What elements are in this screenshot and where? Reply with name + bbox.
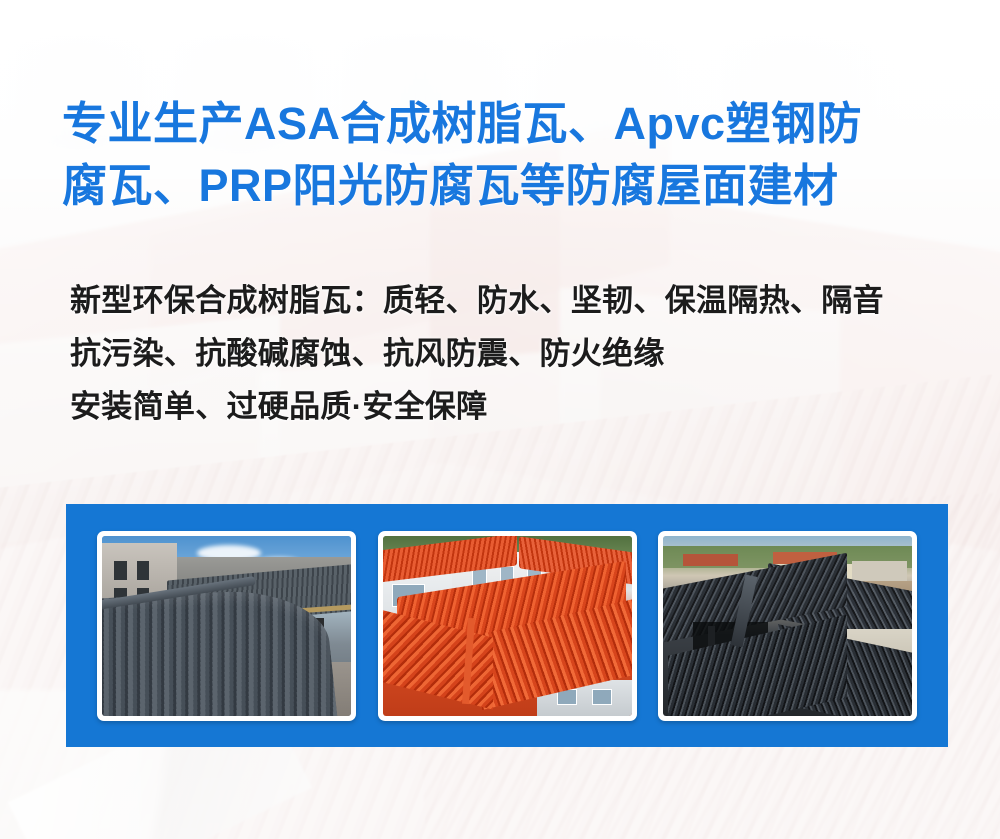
black-roof-image: [663, 536, 912, 716]
subtitle-line-3: 安装简单、过硬品质·安全保障: [70, 380, 970, 433]
feature-list: 新型环保合成树脂瓦：质轻、防水、坚韧、保温隔热、隔音 抗污染、抗酸碱腐蚀、抗风防…: [70, 274, 970, 433]
grey-resin-tile-roof-photo[interactable]: [97, 531, 356, 721]
banner-content: 专业生产ASA合成树脂瓦、Apvc塑钢防 腐瓦、PRP阳光防腐瓦等防腐屋面建材 …: [0, 0, 1000, 839]
grey-roof-image: [102, 536, 351, 716]
subtitle-line-1: 新型环保合成树脂瓦：质轻、防水、坚韧、保温隔热、隔音: [70, 274, 970, 327]
black-resin-tile-roof-photo[interactable]: [658, 531, 917, 721]
headline-line-1: 专业生产ASA合成树脂瓦、Apvc塑钢防: [62, 93, 952, 155]
headline-line-2: 腐瓦、PRP阳光防腐瓦等防腐屋面建材: [62, 155, 952, 217]
red-roof-image: [383, 536, 632, 716]
page-title: 专业生产ASA合成树脂瓦、Apvc塑钢防 腐瓦、PRP阳光防腐瓦等防腐屋面建材: [62, 93, 952, 217]
red-resin-tile-roof-photo[interactable]: [378, 531, 637, 721]
subtitle-line-2: 抗污染、抗酸碱腐蚀、抗风防震、防火绝缘: [70, 327, 970, 380]
photo-gallery-band: [66, 504, 948, 747]
